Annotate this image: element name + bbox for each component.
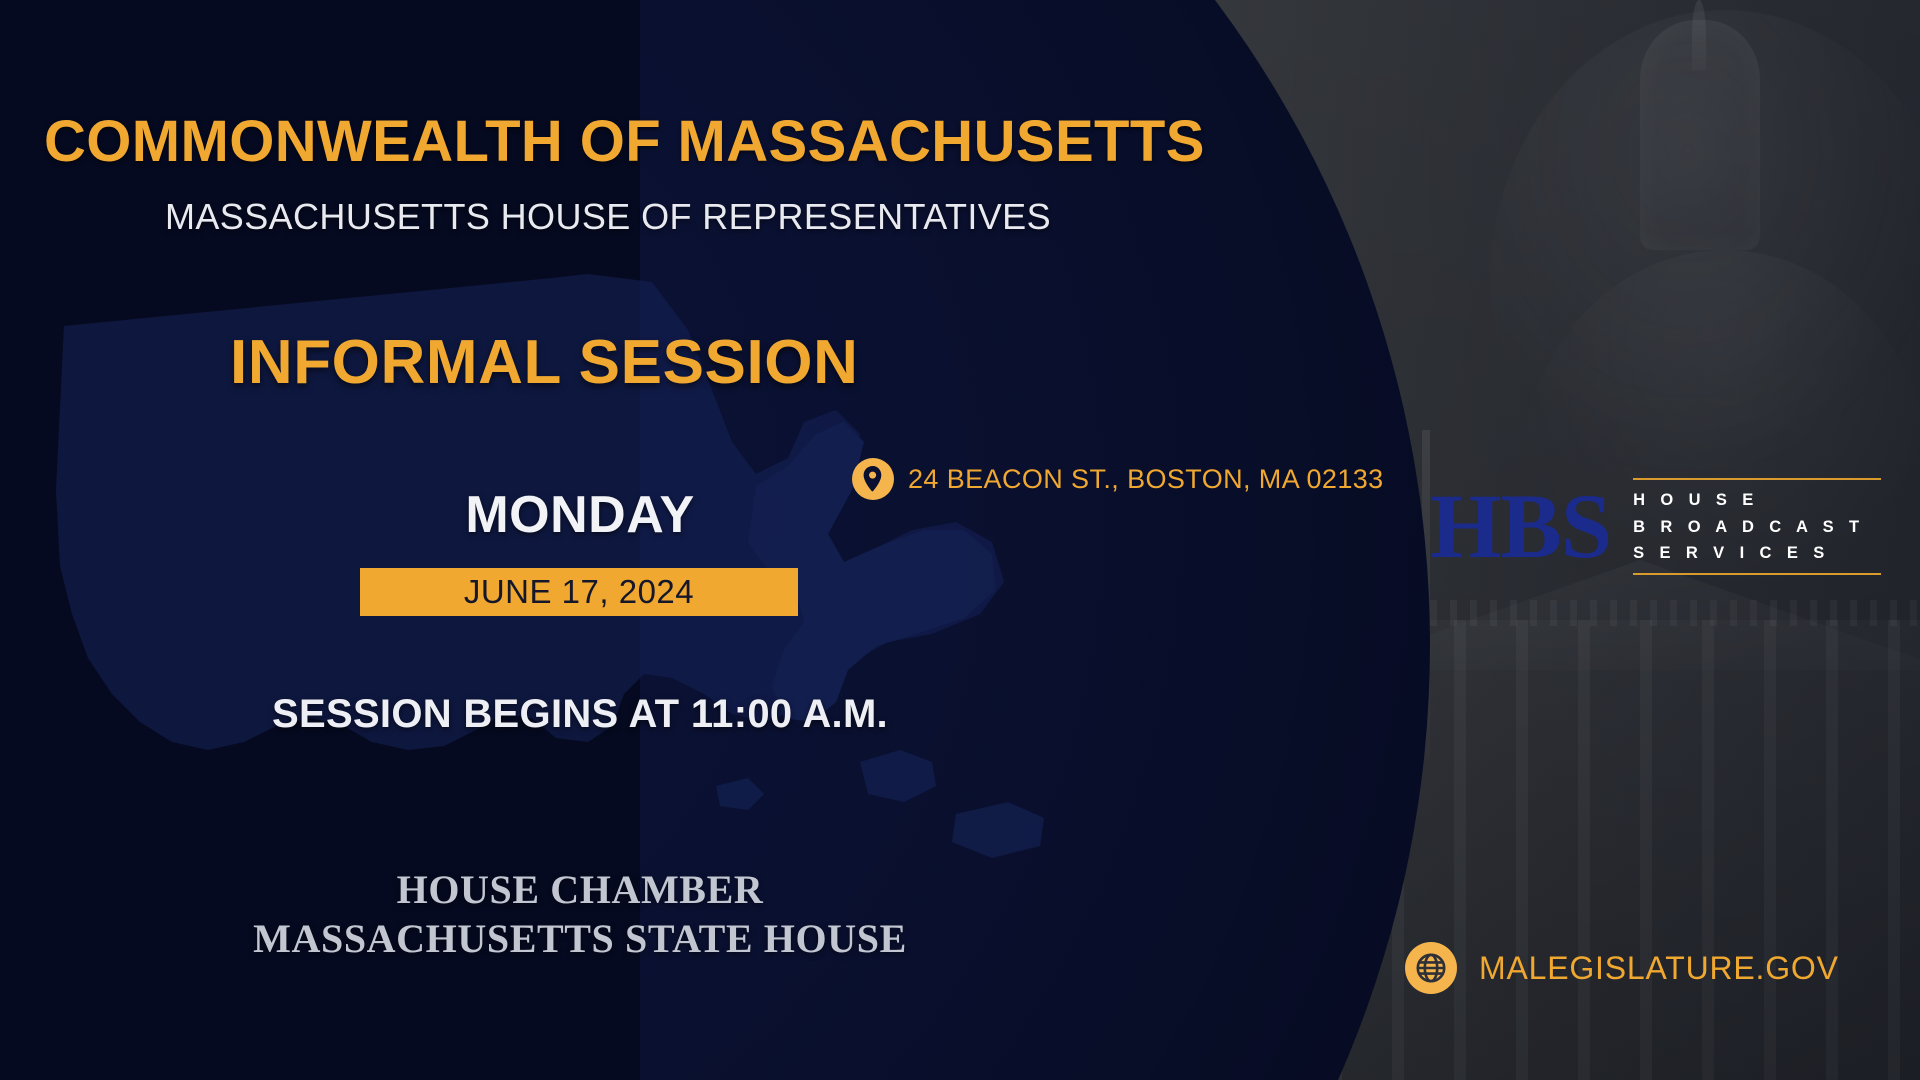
venue-line-2: MASSACHUSETTS STATE HOUSE [180,915,980,964]
venue-block: HOUSE CHAMBER MASSACHUSETTS STATE HOUSE [180,866,980,964]
content-layer: COMMONWEALTH OF MASSACHUSETTS MASSACHUSE… [0,0,1920,1080]
website-text[interactable]: MALEGISLATURE.GOV [1479,950,1839,987]
session-date-badge: JUNE 17, 2024 [360,568,798,616]
website-row[interactable]: MALEGISLATURE.GOV [1405,942,1839,994]
page-title: COMMONWEALTH OF MASSACHUSETTS [44,108,1205,175]
venue-line-1: HOUSE CHAMBER [180,866,980,915]
session-time: SESSION BEGINS AT 11:00 A.M. [270,692,890,737]
map-pin-icon [852,458,894,500]
broadcast-title-card: COMMONWEALTH OF MASSACHUSETTS MASSACHUSE… [0,0,1920,1080]
hbs-monogram: HBS [1430,485,1611,568]
session-date-text: JUNE 17, 2024 [464,573,694,611]
address-text: 24 BEACON ST., BOSTON, MA 02133 [908,464,1384,495]
address-row: 24 BEACON ST., BOSTON, MA 02133 [852,458,1384,500]
session-day: MONDAY [360,485,800,545]
page-subtitle: MASSACHUSETTS HOUSE OF REPRESENTATIVES [165,196,1051,238]
hbs-word-house: H O U S E [1633,487,1881,514]
hbs-wordmark: H O U S E B R O A D C A S T S E R V I C … [1633,478,1881,575]
session-type-heading: INFORMAL SESSION [230,327,859,398]
hbs-word-broadcast: B R O A D C A S T [1633,514,1881,541]
hbs-logo: HBS H O U S E B R O A D C A S T S E R V … [1430,478,1881,575]
globe-icon [1405,942,1457,994]
hbs-word-services: S E R V I C E S [1633,540,1881,567]
